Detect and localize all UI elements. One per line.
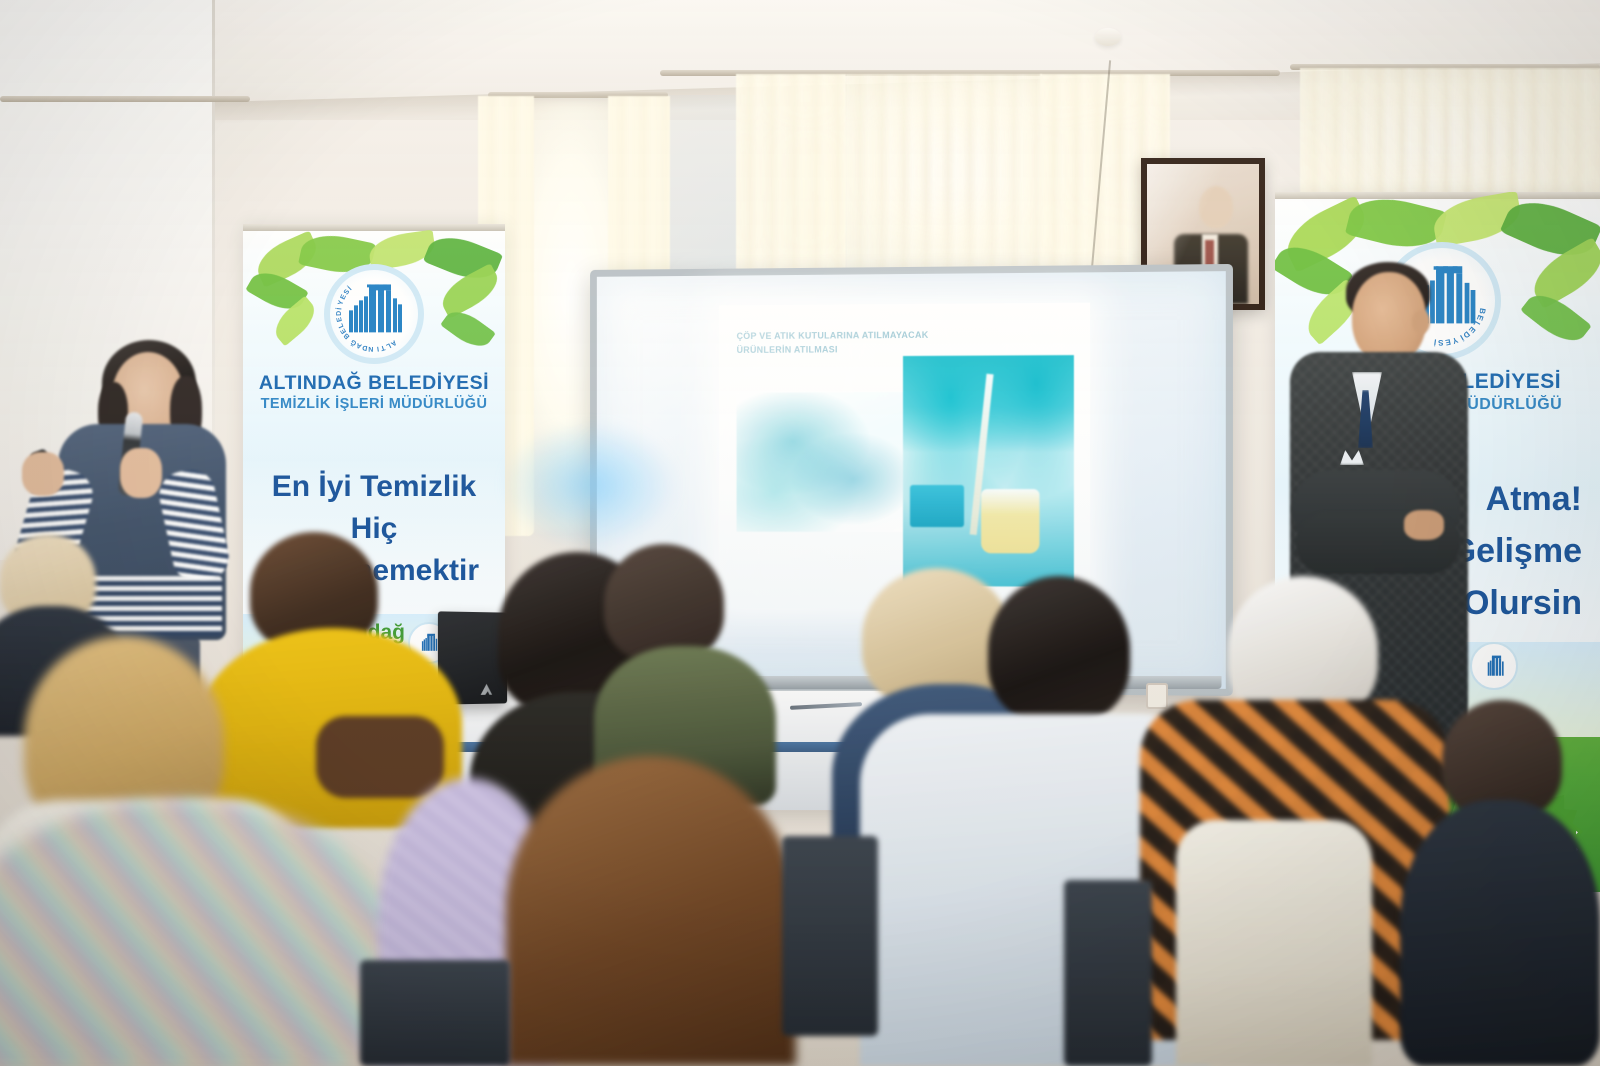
chair-back xyxy=(782,836,878,1036)
torso xyxy=(1400,800,1600,1066)
slide-photo-left xyxy=(737,392,925,532)
wall-socket xyxy=(1146,683,1168,709)
waste-bin-shape xyxy=(910,485,964,527)
knit-patterned-hat xyxy=(0,800,390,1066)
sublogo-castle-badge xyxy=(1470,642,1518,690)
curtain-rod-left xyxy=(0,96,250,102)
castle-icon xyxy=(1481,655,1507,678)
castle-icon xyxy=(418,633,440,653)
left-banner-title-line2: TEMİZLİK İŞLERİ MÜDÜRLÜĞÜ xyxy=(243,396,505,412)
head xyxy=(604,544,724,662)
shoulder-bag xyxy=(316,716,444,798)
smoke-detector-icon xyxy=(1095,28,1121,46)
chair-back xyxy=(1064,880,1152,1066)
presenter-hand-left xyxy=(22,452,64,496)
logo-ring-text: A L T I N D A Ğ B E L E D İ Y E S İ xyxy=(324,264,424,364)
banner-top-rail xyxy=(243,224,505,231)
curtain-center-sheer xyxy=(846,74,1042,274)
left-banner-title-line1: ALTINDAĞ BELEDİYESİ xyxy=(243,372,505,395)
projected-slide: ÇÖP VE ATIK KUTULARINA ATILMAYACAK ÜRÜNL… xyxy=(719,303,1090,610)
torso-cream-vest xyxy=(1176,820,1372,1066)
slide-photo-right xyxy=(903,355,1074,587)
head xyxy=(506,756,796,1066)
banner-top-rail xyxy=(1275,192,1600,199)
photo-scene: A L T I N D A Ğ B E L E D İ Y E S İ ALTI… xyxy=(0,0,1600,1066)
left-banner-slogan-line1: En İyi Temizlik xyxy=(243,470,505,504)
presenter-hand-right xyxy=(120,448,162,498)
slide-title: ÇÖP VE ATIK KUTULARINA ATILMAYACAK ÜRÜNL… xyxy=(737,328,1036,357)
official-ear xyxy=(1412,310,1430,334)
laptop-lid-logo xyxy=(481,684,502,695)
curtain-center-a xyxy=(736,74,846,284)
head xyxy=(988,576,1130,724)
oil-jug-shape xyxy=(981,489,1039,553)
official-hand xyxy=(1404,510,1444,540)
altindag-logo: A L T I N D A Ğ B E L E D İ Y E S İ xyxy=(324,264,424,364)
chair-back xyxy=(360,960,510,1066)
